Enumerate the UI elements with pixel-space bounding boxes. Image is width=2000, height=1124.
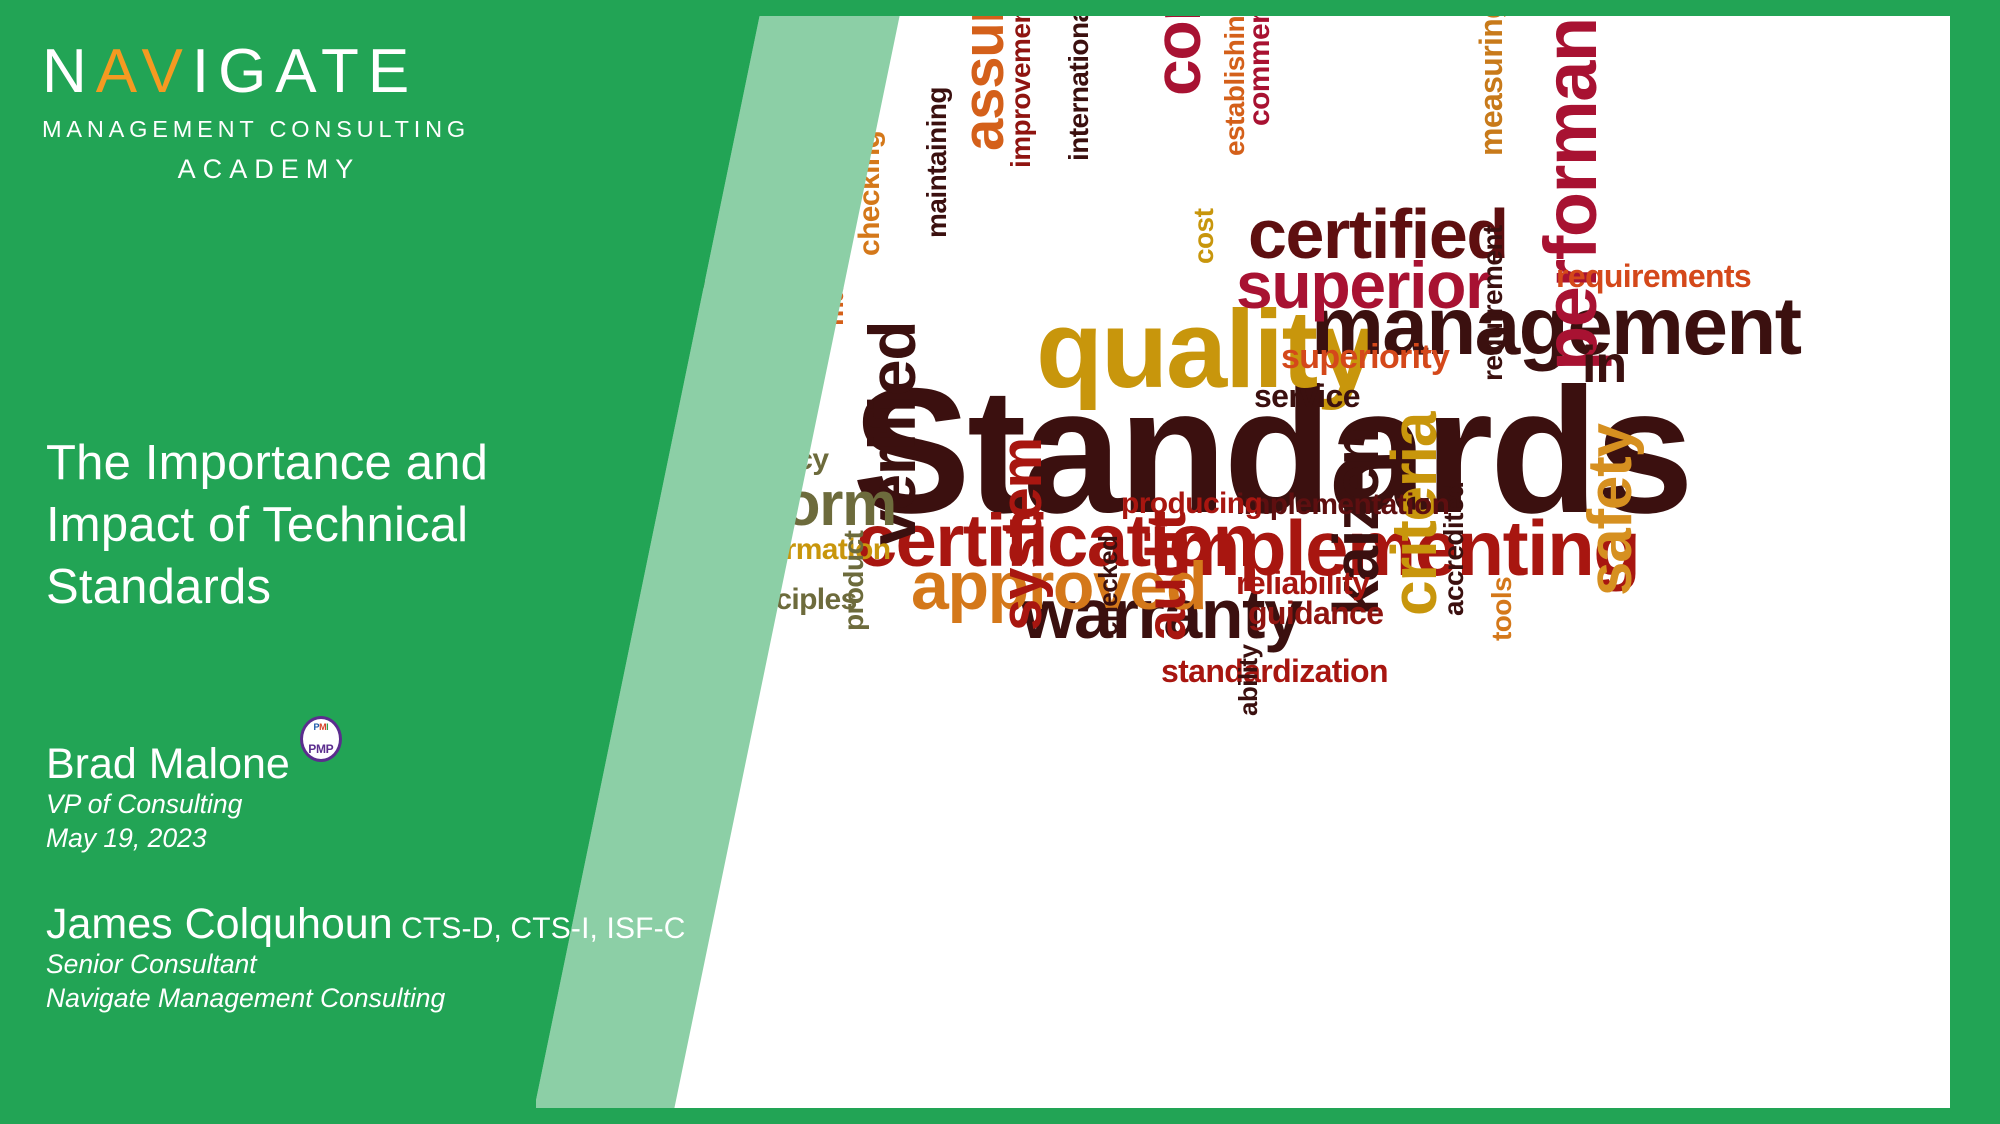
cloud-word: establishing (1222, 16, 1249, 156)
presenter-organization: Navigate Management Consulting (46, 982, 886, 1016)
logo-tagline: MANAGEMENT CONSULTING (42, 116, 522, 143)
presenter-role-secondary: Senior Consultant (46, 948, 886, 982)
pmp-badge-label: PMP (300, 743, 342, 756)
cloud-word: maintaining (924, 87, 951, 238)
credentials-text: CTS-D, CTS-I, ISF-C (401, 912, 686, 945)
presenter-name-text: James Colquhoun (46, 900, 393, 948)
cloud-word: ability (1236, 645, 1261, 717)
cloud-word: improvement (1008, 16, 1035, 168)
cloud-word: performance (1536, 16, 1606, 371)
pmp-badge-icon: PMI PMP (300, 716, 342, 762)
presenter-name-text: Brad Malone (46, 740, 290, 788)
logo-word-accent: AV (96, 37, 192, 106)
logo-academy-label: ACADEMY (42, 154, 522, 185)
cloud-word: company (1146, 16, 1209, 96)
navigate-logo: NAVIGATE MANAGEMENT CONSULTING ACADEMY (42, 36, 522, 185)
presenter-role-primary: VP of Consulting (46, 788, 666, 822)
cloud-word: tools (1489, 577, 1516, 641)
cloud-word: standardization (1161, 656, 1388, 686)
cloud-word: producing (1121, 490, 1262, 519)
cloud-word: audit (1139, 513, 1192, 641)
presenter-name-primary: Brad Malone PMI PMP (46, 716, 666, 788)
cloud-word: reliability (1236, 568, 1369, 598)
cloud-word: accredited (1441, 482, 1468, 616)
pmi-logo-mark: PMI (300, 722, 342, 732)
cloud-word: measuring (1476, 16, 1506, 156)
cloud-word: safety (1582, 424, 1641, 596)
cloud-word: product (841, 531, 868, 631)
cloud-word: commerce (1246, 16, 1275, 126)
logo-word-after: IGATE (192, 37, 418, 106)
logo-word-before: N (42, 37, 96, 106)
cloud-word: in (1582, 341, 1626, 390)
presenter-name-secondary: James Colquhoun CTS-D, CTS-I, ISF-C (46, 900, 886, 948)
presentation-date: May 19, 2023 (46, 822, 666, 856)
cloud-word: superior (1236, 254, 1490, 317)
title-panel: NAVIGATE MANAGEMENT CONSULTING ACADEMY T… (0, 0, 560, 1124)
slide-canvas: Standardsqualitymanagementimplementingce… (0, 0, 2000, 1124)
presenter-credentials: CTS-D, CTS-I, ISF-C (393, 912, 686, 945)
cloud-word: requirement (1480, 225, 1507, 381)
cloud-word: implementation (1236, 491, 1449, 520)
cloud-word: service (1254, 381, 1360, 411)
cloud-word: superiority (1281, 341, 1449, 373)
cloud-word: assurance (956, 16, 1011, 151)
cloud-word: checked (1096, 536, 1121, 636)
cloud-word: international (1066, 16, 1093, 161)
cloud-word: requirements (1556, 261, 1751, 291)
cloud-word: cost (1191, 209, 1218, 264)
cloud-word: guidance (1248, 598, 1383, 628)
logo-wordmark: NAVIGATE (42, 36, 522, 107)
presenter-block-primary: Brad Malone PMI PMP VP of Consulting May… (46, 716, 666, 856)
cloud-word: system (994, 438, 1049, 631)
page-title: The Importance and Impact of Technical S… (46, 432, 646, 619)
presenter-block-secondary: James Colquhoun CTS-D, CTS-I, ISF-C Seni… (46, 900, 886, 1016)
